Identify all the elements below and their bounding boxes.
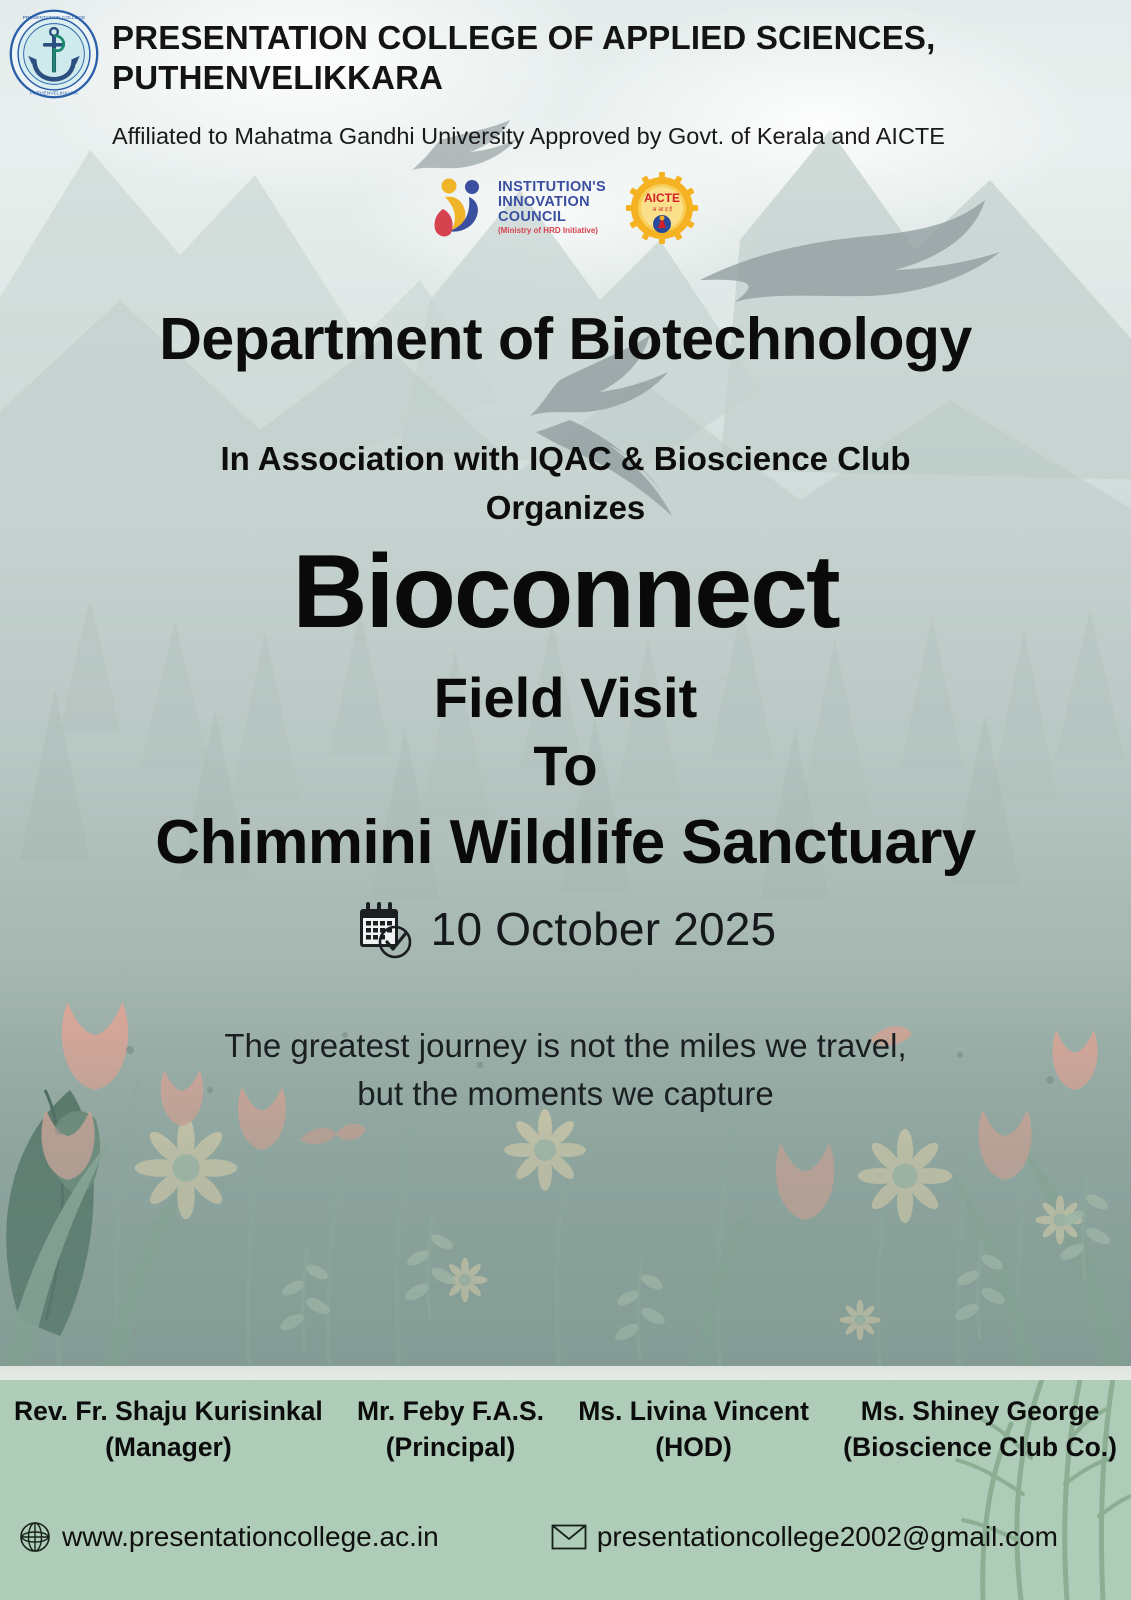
website-link[interactable]: www.presentationcollege.ac.in — [18, 1520, 439, 1554]
calendar-check-icon — [355, 898, 417, 960]
iic-line-3: COUNCIL — [498, 210, 606, 225]
signatory-name: Ms. Shiney George — [843, 1394, 1117, 1430]
event-quote: The greatest journey is not the miles we… — [0, 1022, 1131, 1118]
iic-line-1: INSTITUTION'S — [498, 180, 606, 195]
signatory-name: Rev. Fr. Shaju Kurisinkal — [14, 1394, 323, 1430]
signatory-manager: Rev. Fr. Shaju Kurisinkal (Manager) — [14, 1394, 323, 1466]
svg-text:PUTHENVELIKKARA: PUTHENVELIKKARA — [30, 90, 79, 96]
aicte-label: AICTE — [644, 191, 680, 205]
org-title-line-2: PUTHENVELIKKARA — [112, 59, 443, 96]
signatory-role: (Principal) — [357, 1430, 544, 1466]
iic-text-block: INSTITUTION'S INNOVATION COUNCIL (Minist… — [498, 180, 606, 236]
svg-text:अ आ इ ई: अ आ इ ई — [652, 206, 673, 213]
org-title-line-1: PRESENTATION COLLEGE OF APPLIED SCIENCES… — [112, 19, 936, 56]
envelope-icon — [551, 1523, 587, 1551]
globe-icon — [18, 1520, 52, 1554]
to-connector-text: To — [0, 738, 1131, 794]
event-date-row: 10 October 2025 — [0, 898, 1131, 960]
signatory-name: Ms. Livina Vincent — [578, 1394, 809, 1430]
signatory-role: (Bioscience Club Co.) — [843, 1430, 1117, 1466]
affiliation-text: Affiliated to Mahatma Gandhi University … — [112, 122, 1102, 150]
email-link[interactable]: presentationcollege2002@gmail.com — [551, 1521, 1058, 1553]
venue-title: Chimmini Wildlife Sanctuary — [0, 812, 1131, 874]
quote-line-2: but the moments we capture — [357, 1075, 773, 1112]
association-text: In Association with IQAC & Bioscience Cl… — [0, 438, 1131, 481]
email-text: presentationcollege2002@gmail.com — [597, 1521, 1058, 1553]
event-name-title: Bioconnect — [0, 540, 1131, 644]
event-type-text: Field Visit — [0, 670, 1131, 726]
accreditation-badges: INSTITUTION'S INNOVATION COUNCIL (Minist… — [0, 166, 1131, 250]
college-crest-icon: PRESENTATION COLLEGE PUTHENVELIKKARA — [8, 8, 100, 100]
signatory-principal: Mr. Feby F.A.S. (Principal) — [357, 1394, 544, 1466]
aicte-gear-icon: AICTE अ आ इ ई — [626, 172, 698, 244]
poster-header: PRESENTATION COLLEGE PUTHENVELIKKARA PRE… — [0, 0, 1131, 165]
signatory-hod: Ms. Livina Vincent (HOD) — [578, 1394, 809, 1466]
signatory-role: (HOD) — [578, 1430, 809, 1466]
quote-line-1: The greatest journey is not the miles we… — [224, 1027, 906, 1064]
signatories-row: Rev. Fr. Shaju Kurisinkal (Manager) Mr. … — [0, 1394, 1131, 1466]
iic-badge: INSTITUTION'S INNOVATION COUNCIL (Minist… — [433, 177, 606, 239]
poster-footer: Rev. Fr. Shaju Kurisinkal (Manager) Mr. … — [0, 1380, 1131, 1600]
poster-canvas: PRESENTATION COLLEGE PUTHENVELIKKARA PRE… — [0, 0, 1131, 1600]
iic-figures-icon — [433, 177, 491, 239]
contact-bar: www.presentationcollege.ac.in presentati… — [0, 1520, 1131, 1554]
website-text: www.presentationcollege.ac.in — [62, 1521, 439, 1553]
organizes-text: Organizes — [0, 489, 1131, 527]
iic-subtitle: (Ministry of HRD Initiative) — [498, 227, 606, 235]
department-title: Department of Biotechnology — [0, 305, 1131, 373]
event-date-text: 10 October 2025 — [431, 902, 777, 956]
signatory-name: Mr. Feby F.A.S. — [357, 1394, 544, 1430]
signatory-role: (Manager) — [14, 1430, 323, 1466]
footer-divider — [0, 1366, 1131, 1380]
svg-text:PRESENTATION COLLEGE: PRESENTATION COLLEGE — [23, 15, 86, 21]
iic-line-2: INNOVATION — [498, 195, 606, 210]
signatory-bioscience-coordinator: Ms. Shiney George (Bioscience Club Co.) — [843, 1394, 1117, 1466]
organization-title: PRESENTATION COLLEGE OF APPLIED SCIENCES… — [112, 18, 1102, 99]
